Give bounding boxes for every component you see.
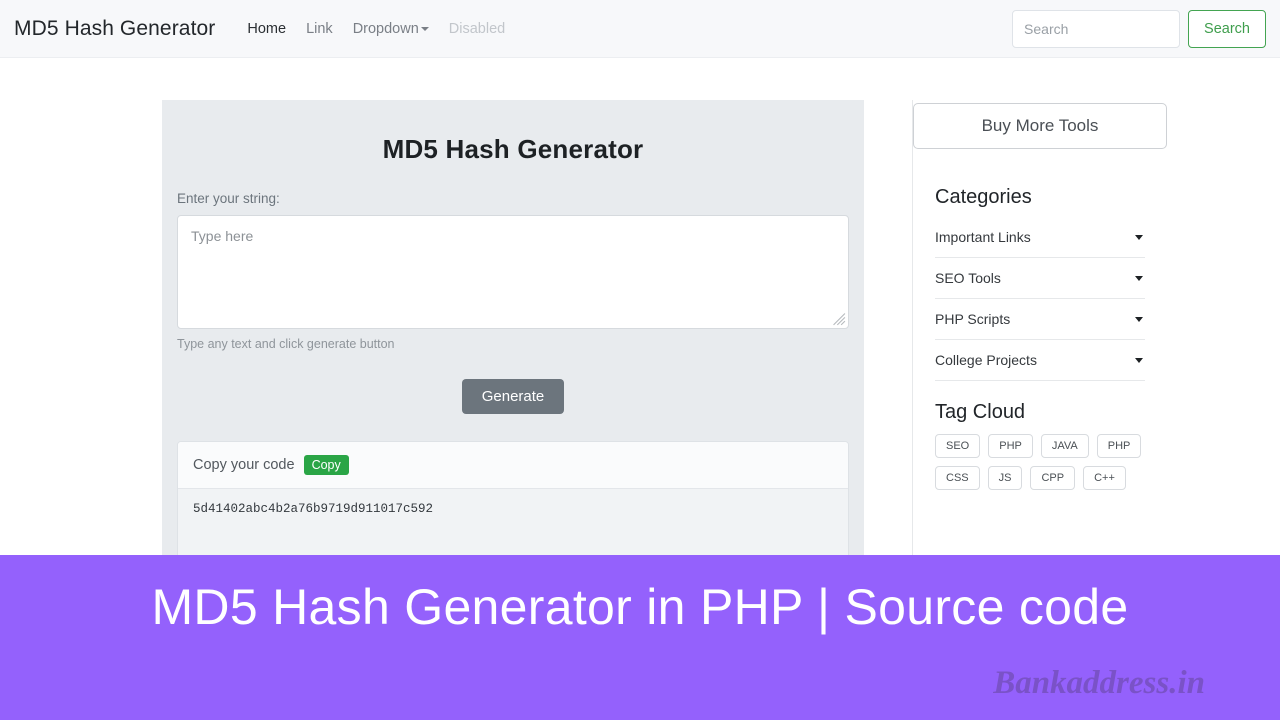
string-input-textarea[interactable]	[177, 215, 849, 329]
tag-item[interactable]: CPP	[1030, 466, 1075, 490]
categories-list: Important Links SEO Tools PHP Scripts Co…	[935, 217, 1145, 381]
nav-link-disabled: Disabled	[439, 21, 515, 37]
category-label: Important Links	[935, 229, 1031, 245]
watermark-logo: Bankaddress.in	[993, 665, 1205, 702]
tag-item[interactable]: JAVA	[1041, 434, 1089, 458]
banner-title: MD5 Hash Generator in PHP | Source code	[0, 569, 1280, 647]
nav-link-home[interactable]: Home	[237, 21, 296, 37]
page-title: MD5 Hash Generator	[177, 134, 849, 165]
tag-item[interactable]: PHP	[988, 434, 1033, 458]
chevron-down-icon	[1135, 276, 1143, 281]
categories-heading: Categories	[935, 186, 1180, 209]
sidebar-item-seo-tools[interactable]: SEO Tools	[935, 258, 1145, 299]
sidebar-item-php-scripts[interactable]: PHP Scripts	[935, 299, 1145, 340]
navbar-brand[interactable]: MD5 Hash Generator	[14, 17, 215, 41]
video-title-banner: MD5 Hash Generator in PHP | Source code …	[0, 555, 1280, 720]
tag-item[interactable]: PHP	[1097, 434, 1142, 458]
output-panel-header: Copy your code Copy	[178, 442, 848, 489]
navbar: MD5 Hash Generator Home Link Dropdown Di…	[0, 0, 1280, 58]
category-label: PHP Scripts	[935, 311, 1010, 327]
chevron-down-icon	[1135, 358, 1143, 363]
generate-button[interactable]: Generate	[462, 379, 565, 414]
navbar-links: Home Link Dropdown Disabled	[237, 21, 515, 37]
sidebar-item-important-links[interactable]: Important Links	[935, 217, 1145, 258]
copy-button[interactable]: Copy	[304, 455, 349, 475]
tag-item[interactable]: SEO	[935, 434, 980, 458]
page-root: MD5 Hash Generator Home Link Dropdown Di…	[0, 0, 1280, 720]
input-help-text: Type any text and click generate button	[177, 337, 849, 351]
buy-more-tools-button[interactable]: Buy More Tools	[913, 103, 1167, 149]
chevron-down-icon	[421, 27, 429, 31]
tag-item[interactable]: C++	[1083, 466, 1126, 490]
category-label: SEO Tools	[935, 270, 1001, 286]
sidebar: Buy More Tools Categories Important Link…	[912, 100, 1180, 570]
nav-link-link[interactable]: Link	[296, 21, 343, 37]
chevron-down-icon	[1135, 317, 1143, 322]
nav-link-dropdown-label: Dropdown	[353, 21, 419, 37]
sidebar-item-college-projects[interactable]: College Projects	[935, 340, 1145, 381]
navbar-search-form: Search	[1012, 10, 1266, 48]
input-textarea-wrapper	[177, 215, 849, 329]
category-label: College Projects	[935, 352, 1037, 368]
search-button[interactable]: Search	[1188, 10, 1266, 48]
tag-cloud: SEO PHP JAVA PHP CSS JS CPP C++	[935, 434, 1150, 490]
input-label: Enter your string:	[177, 191, 849, 206]
tag-item[interactable]: CSS	[935, 466, 980, 490]
tag-item[interactable]: JS	[988, 466, 1023, 490]
tag-cloud-heading: Tag Cloud	[935, 401, 1180, 424]
search-input[interactable]	[1012, 10, 1180, 48]
hash-generator-card: MD5 Hash Generator Enter your string: Ty…	[162, 100, 864, 570]
output-header-label: Copy your code	[193, 457, 295, 473]
chevron-down-icon	[1135, 235, 1143, 240]
nav-link-dropdown[interactable]: Dropdown	[343, 21, 439, 37]
generate-row: Generate	[177, 379, 849, 414]
